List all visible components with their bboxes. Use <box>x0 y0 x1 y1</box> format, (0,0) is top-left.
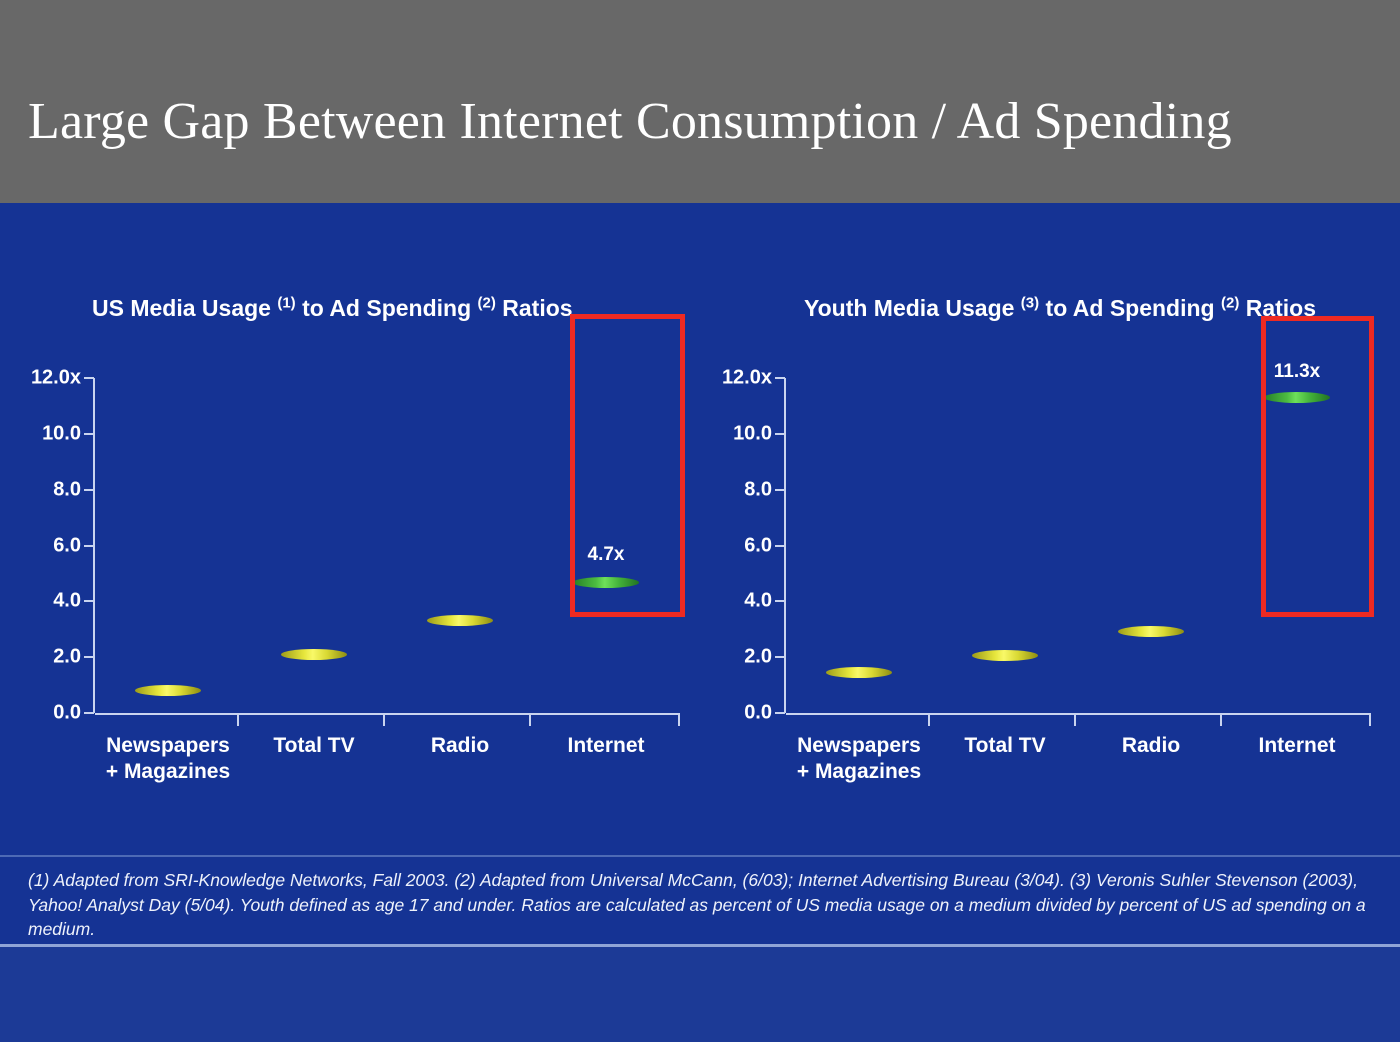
bar-internet[interactable]: 11.3x Internet <box>1264 397 1330 713</box>
y-tick-mark <box>84 377 94 379</box>
label-line-1: Newspapers <box>797 734 921 757</box>
x-axis-label-radio: Radio <box>431 733 489 759</box>
y-tick-label: 4.0 <box>53 590 81 613</box>
bar-total-tv[interactable]: Total TV <box>972 655 1038 713</box>
x-tick-mark <box>678 714 680 726</box>
plot-area-youth-media: 12.0x 10.0 8.0 6.0 4.0 2.0 0.0 <box>786 378 1371 713</box>
label-line-1: Newspapers <box>106 734 230 757</box>
bar-radio[interactable]: Radio <box>427 620 493 713</box>
x-axis-label-total-tv: Total TV <box>964 733 1045 759</box>
bar-value-label-internet: 11.3x <box>1274 361 1321 383</box>
bar-value-label-internet: 4.7x <box>588 544 625 566</box>
bar-top-cap <box>1264 392 1330 403</box>
x-axis-label-newspapers-magazines: Newspapers+ Magazines <box>106 733 230 785</box>
y-tick-label: 0.0 <box>744 702 772 725</box>
label-line-2: + Magazines <box>797 759 921 785</box>
y-tick-mark <box>775 656 785 658</box>
bar-internet[interactable]: 4.7x Internet <box>573 582 639 713</box>
x-tick-mark <box>237 714 239 726</box>
chart-title-youth-media: Youth Media Usage (3) to Ad Spending (2)… <box>740 291 1380 325</box>
y-tick-mark <box>775 489 785 491</box>
y-tick-label: 10.0 <box>42 422 81 445</box>
y-tick-label: 2.0 <box>744 646 772 669</box>
plot-area-us-media: 12.0x 10.0 8.0 6.0 4.0 2.0 0.0 <box>95 378 680 713</box>
y-tick-mark <box>775 377 785 379</box>
chart-title-segment: to Ad Spending <box>1039 295 1221 321</box>
x-tick-mark <box>529 714 531 726</box>
y-tick-mark <box>775 433 785 435</box>
bar-total-tv[interactable]: Total TV <box>281 654 347 713</box>
y-tick-mark <box>84 600 94 602</box>
footnote-marker-2: (2) <box>478 294 496 311</box>
x-tick-mark <box>383 714 385 726</box>
bar-top-cap <box>1118 626 1184 637</box>
y-tick-mark <box>84 433 94 435</box>
chart-title-segment: Ratios <box>496 295 573 321</box>
y-tick-mark <box>775 600 785 602</box>
bar-top-cap <box>826 667 892 678</box>
x-tick-mark <box>928 714 930 726</box>
y-tick-label: 6.0 <box>744 534 772 557</box>
bar-top-cap <box>281 649 347 660</box>
chart-title-segment: US Media Usage <box>92 295 277 321</box>
chart-panel-us-media: US Media Usage (1) to Ad Spending (2) Ra… <box>0 203 720 945</box>
y-tick-label: 0.0 <box>53 702 81 725</box>
bar-radio[interactable]: Radio <box>1118 631 1184 713</box>
x-axis-label-newspapers-magazines: Newspapers+ Magazines <box>797 733 921 785</box>
y-tick-mark <box>84 545 94 547</box>
footnote-text: (1) Adapted from SRI-Knowledge Networks,… <box>28 868 1376 942</box>
bar-newspapers-magazines[interactable]: Newspapers+ Magazines <box>826 672 892 713</box>
x-axis-label-radio: Radio <box>1122 733 1180 759</box>
x-axis-label-internet: Internet <box>1258 733 1335 759</box>
x-tick-mark <box>1220 714 1222 726</box>
x-tick-mark <box>1074 714 1076 726</box>
y-tick-label: 4.0 <box>744 590 772 613</box>
chart-title-us-media: US Media Usage (1) to Ad Spending (2) Ra… <box>40 291 680 325</box>
chart-title-segment: Ratios <box>1239 295 1316 321</box>
page-title: Large Gap Between Internet Consumption /… <box>28 92 1378 151</box>
y-tick-label: 2.0 <box>53 646 81 669</box>
bar-top-cap <box>427 615 493 626</box>
y-tick-mark <box>775 545 785 547</box>
bar-top-cap <box>135 685 201 696</box>
chart-title-segment: Youth Media Usage <box>804 295 1021 321</box>
slide-footer: MorganStanley 43 Yourseeker <box>0 947 1400 1042</box>
slide-canvas: Large Gap Between Internet Consumption /… <box>0 0 1400 1042</box>
x-axis-label-internet: Internet <box>567 733 644 759</box>
footnote-marker-2: (2) <box>1221 294 1239 311</box>
slide-body: US Media Usage (1) to Ad Spending (2) Ra… <box>0 203 1400 945</box>
footnote-marker-1: (1) <box>277 294 295 311</box>
bar-top-cap <box>972 650 1038 661</box>
x-axis-line <box>95 713 680 715</box>
x-axis-line <box>786 713 1371 715</box>
y-tick-label: 10.0 <box>733 422 772 445</box>
y-tick-label: 6.0 <box>53 534 81 557</box>
label-line-2: + Magazines <box>106 759 230 785</box>
y-tick-label: 8.0 <box>53 478 81 501</box>
y-tick-mark <box>775 712 785 714</box>
y-tick-label: 8.0 <box>744 478 772 501</box>
chart-title-segment: to Ad Spending <box>296 295 478 321</box>
y-tick-mark <box>84 712 94 714</box>
highlight-box-internet <box>570 314 685 617</box>
x-tick-mark <box>1369 714 1371 726</box>
chart-panel-youth-media: Youth Media Usage (3) to Ad Spending (2)… <box>720 203 1400 945</box>
bar-top-cap <box>573 577 639 588</box>
y-tick-mark <box>84 656 94 658</box>
footnote-marker-3: (3) <box>1021 294 1039 311</box>
y-tick-label: 12.0x <box>31 367 81 390</box>
y-tick-mark <box>84 489 94 491</box>
x-axis-label-total-tv: Total TV <box>273 733 354 759</box>
bar-newspapers-magazines[interactable]: Newspapers+ Magazines <box>135 690 201 713</box>
footnote-divider <box>0 855 1400 857</box>
y-tick-label: 12.0x <box>722 367 772 390</box>
